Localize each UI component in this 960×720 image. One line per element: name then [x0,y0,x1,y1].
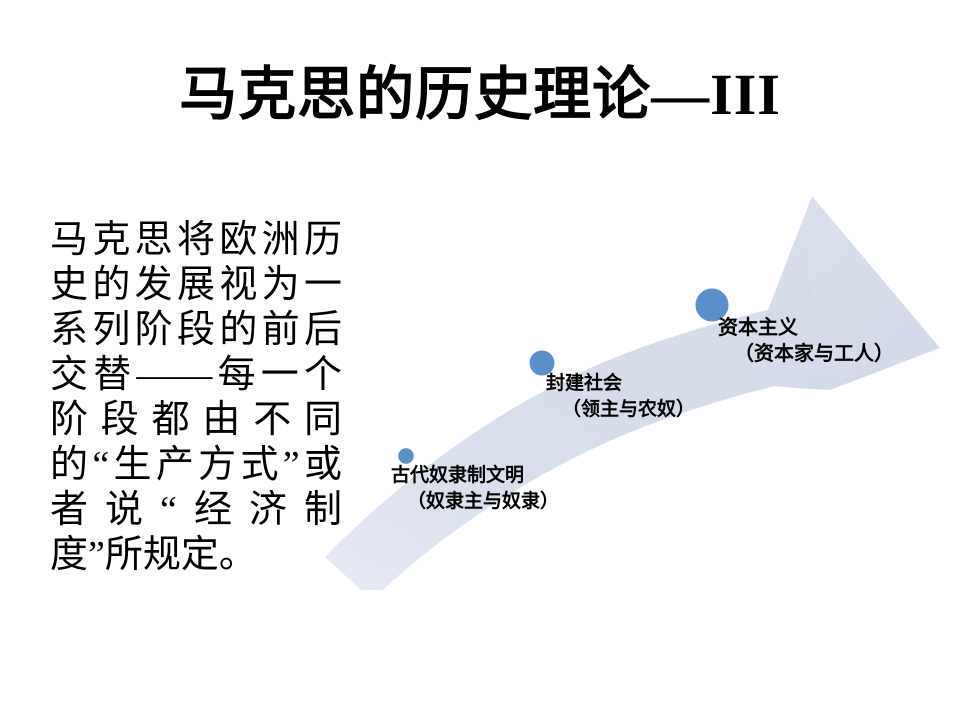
stage-label-feudal: 封建社会 （领主与农奴） [546,370,695,422]
stage-label-ancient: 古代奴隶制文明 （奴隶主与奴隶） [391,462,559,514]
stage-label-ancient-line2: （奴隶主与奴隶） [391,488,559,514]
stage-label-capitalism-line2: （资本家与工人） [718,340,894,366]
slide-canvas: 马克思的历史理论—III 马克思将欧洲历史的发展视为一系列阶段的前后交替——每一… [0,0,960,720]
stage-label-capitalism: 资本主义 （资本家与工人） [718,314,894,366]
stage-label-feudal-line2: （领主与农奴） [546,396,695,422]
page-title: 马克思的历史理论—III [0,62,960,128]
stage-label-ancient-line1: 古代奴隶制文明 [391,462,559,488]
body-paragraph: 马克思将欧洲历史的发展视为一系列阶段的前后交替——每一个阶段都由不同的“生产方式… [50,218,342,578]
stage-label-capitalism-line1: 资本主义 [718,314,894,340]
stage-label-feudal-line1: 封建社会 [546,370,695,396]
